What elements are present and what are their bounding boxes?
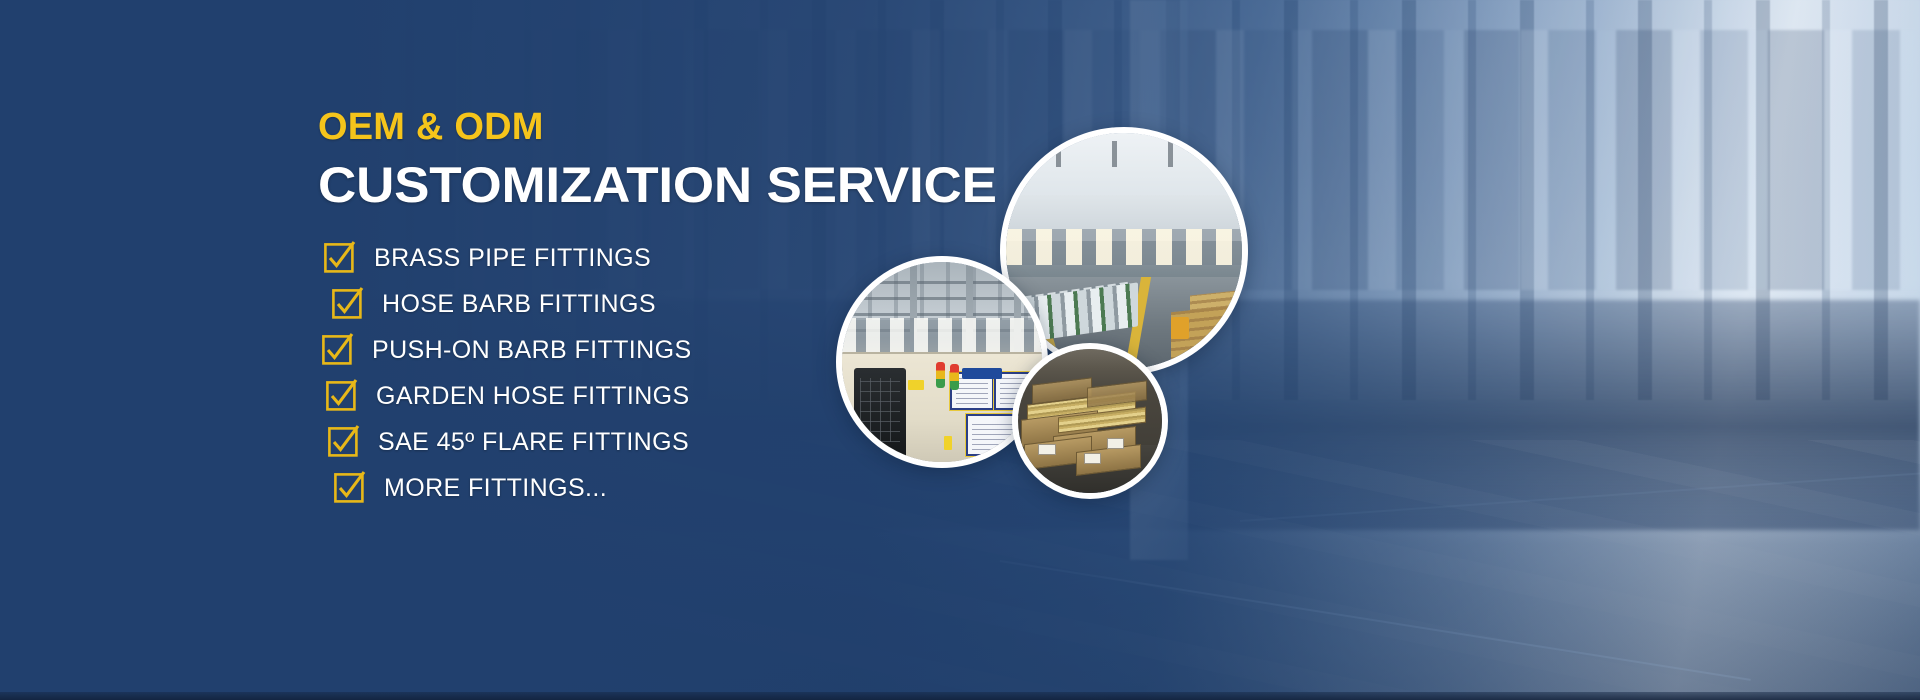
feature-label: GARDEN HOSE FITTINGS [376, 382, 690, 411]
checkbox-checked-icon [322, 335, 352, 365]
banner-text-content: OEM & ODM CUSTOMIZATION SERVICE BRASS PI… [318, 108, 1078, 516]
list-item: HOSE BARB FITTINGS [332, 286, 1078, 322]
checkbox-checked-icon [332, 289, 362, 319]
checkbox-checked-icon [328, 427, 358, 457]
feature-label: HOSE BARB FITTINGS [382, 290, 656, 319]
page-title: CUSTOMIZATION SERVICE [318, 160, 1124, 210]
checkbox-checked-icon [334, 473, 364, 503]
feature-list: BRASS PIPE FITTINGS HOSE BARB FITTINGS [318, 240, 1078, 506]
bottom-edge-strip [0, 692, 1920, 700]
checkbox-checked-icon [324, 243, 354, 273]
banner-eyebrow: OEM & ODM [318, 108, 1078, 146]
list-item: SAE 45º FLARE FITTINGS [328, 424, 1078, 460]
list-item: BRASS PIPE FITTINGS [324, 240, 1078, 276]
list-item: MORE FITTINGS... [334, 470, 1078, 506]
feature-label: BRASS PIPE FITTINGS [374, 244, 651, 273]
feature-label: PUSH-ON BARB FITTINGS [372, 336, 692, 365]
oem-odm-customization-banner: OEM & ODM CUSTOMIZATION SERVICE BRASS PI… [0, 0, 1920, 700]
feature-label: SAE 45º FLARE FITTINGS [378, 428, 689, 457]
list-item: GARDEN HOSE FITTINGS [326, 378, 1078, 414]
checkbox-checked-icon [326, 381, 356, 411]
list-item: PUSH-ON BARB FITTINGS [322, 332, 1078, 368]
feature-label: MORE FITTINGS... [384, 474, 607, 503]
